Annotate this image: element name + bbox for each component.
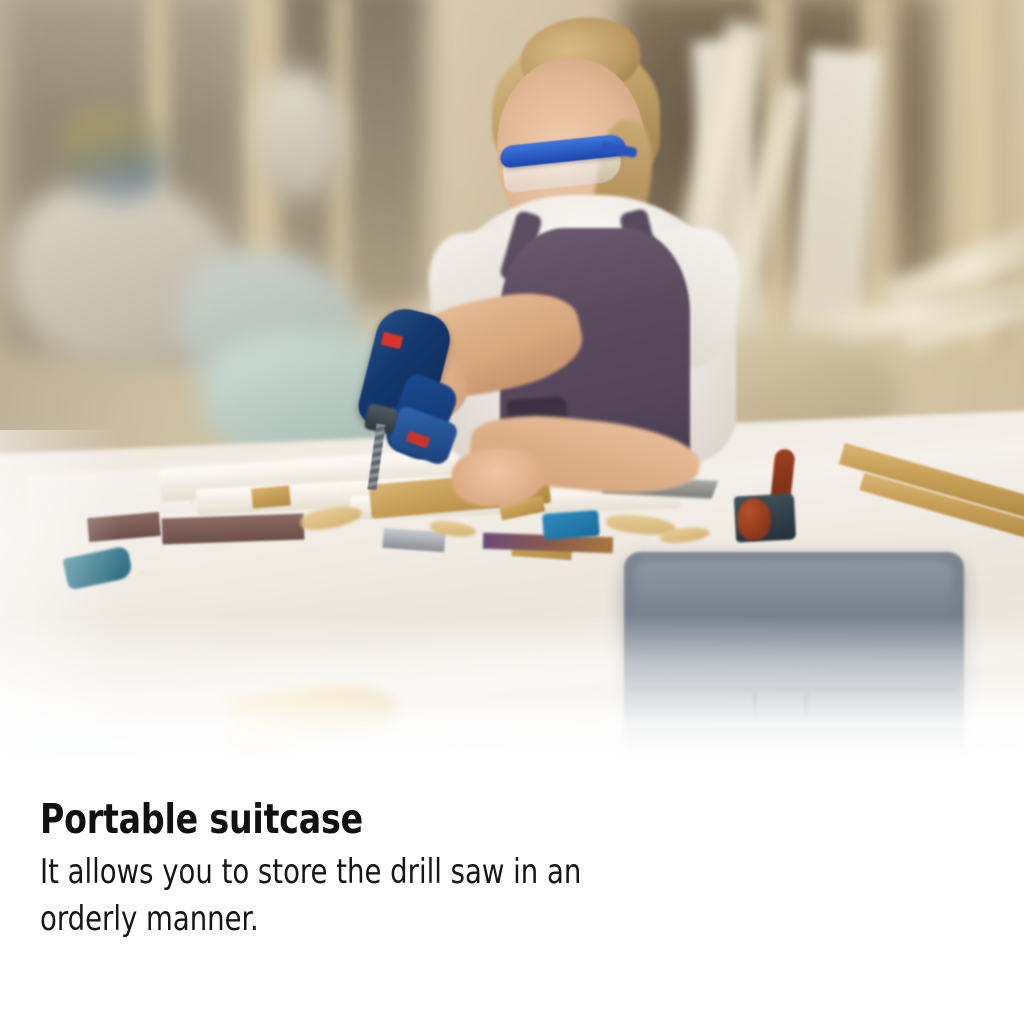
suitcase-highlight xyxy=(636,560,952,620)
hand-left xyxy=(450,445,546,509)
sawdust-speck xyxy=(520,580,525,585)
suitcase-lid-seam xyxy=(630,688,958,691)
person-using-drill xyxy=(0,0,1024,560)
sawdust-speck xyxy=(420,640,426,644)
product-photo xyxy=(0,0,1024,790)
caption-block: Portable suitcase It allows you to store… xyxy=(40,793,980,943)
suitcase-latch xyxy=(804,692,808,714)
sawdust-speck xyxy=(268,600,272,604)
sawdust-speck xyxy=(140,570,145,575)
suitcase-latch xyxy=(753,692,757,714)
caption-description: It allows you to store the drill saw in … xyxy=(40,849,645,943)
product-feature-card: Portable suitcase It allows you to store… xyxy=(0,0,1024,1024)
caption-title: Portable suitcase xyxy=(40,793,886,845)
blue-foreground-object xyxy=(0,730,150,758)
